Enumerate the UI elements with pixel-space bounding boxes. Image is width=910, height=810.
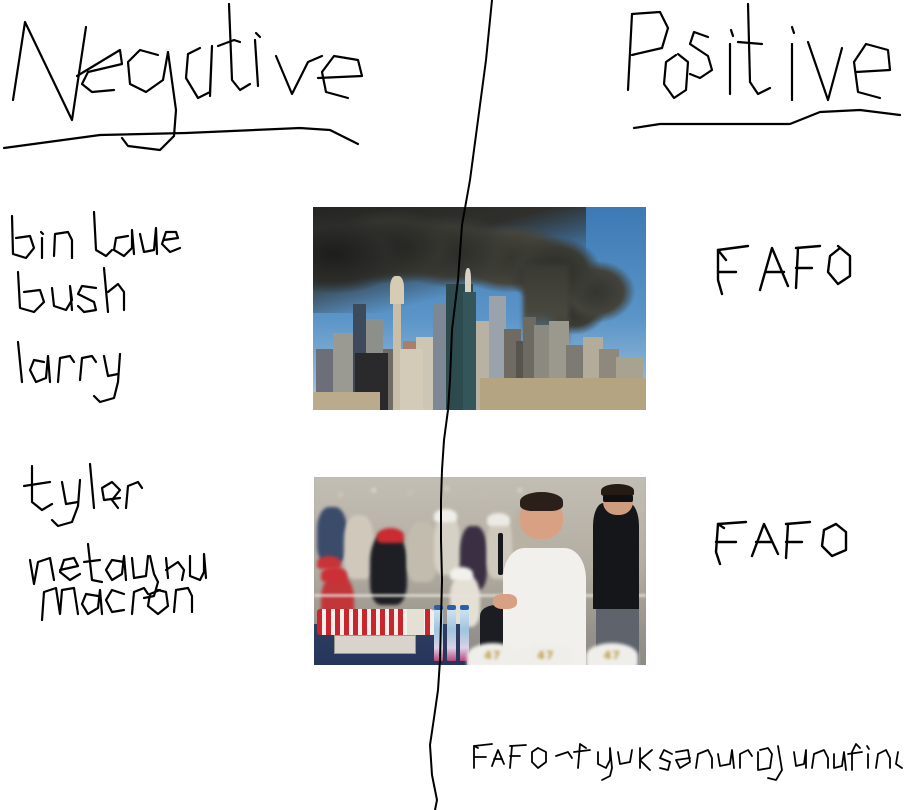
crowd-cap <box>321 567 348 582</box>
header-negative-handwriting <box>13 4 362 150</box>
crowd-cap <box>434 509 457 522</box>
bottle-cap <box>434 605 443 610</box>
header-positive-underline <box>634 110 900 128</box>
cup <box>407 609 424 635</box>
microphone-icon <box>498 533 503 574</box>
building <box>400 349 423 410</box>
building <box>465 268 472 292</box>
crowd-cap <box>487 513 510 526</box>
list-item-macron <box>42 588 192 620</box>
building <box>390 276 403 304</box>
list-item-netanyahu <box>30 544 206 598</box>
foreground-rooftop <box>313 392 380 410</box>
speaker-hand <box>493 594 516 609</box>
list-item-tyler <box>24 464 142 526</box>
photo-event: 47 47 47 Man in white t-shirt holding a … <box>314 477 646 665</box>
header-positive-handwriting <box>628 4 890 100</box>
footer-caption <box>474 744 902 780</box>
header-negative-underline <box>4 128 358 148</box>
dot-i <box>792 27 794 33</box>
guard-body <box>593 503 639 608</box>
bottle-cap <box>460 605 469 610</box>
crowd-person <box>407 522 437 582</box>
building <box>463 292 476 410</box>
cap-47: 47 <box>586 643 638 665</box>
positive-label-fafo-bottom <box>716 522 846 564</box>
crowd-person <box>317 507 347 563</box>
list-item-larry <box>18 342 120 402</box>
crowd-cap <box>377 528 404 543</box>
foreground-rooftop <box>480 378 647 410</box>
positive-label-fafo-top <box>718 246 850 294</box>
crowd-cap <box>450 567 473 580</box>
sunglasses-icon <box>603 495 633 503</box>
water-bottle <box>447 609 456 662</box>
crowd-person <box>344 515 374 579</box>
photo-wtc: World Trade Center towers burning with l… <box>313 207 646 410</box>
water-bottle <box>434 609 443 662</box>
crowd-person <box>434 515 461 575</box>
speaker-hair <box>520 492 563 511</box>
bottle-cap <box>447 605 456 610</box>
dot-i <box>731 30 733 36</box>
cap-47: 47 <box>467 643 519 665</box>
list-item-bin-laden <box>12 212 180 258</box>
list-item-bush <box>18 268 124 312</box>
cap-47: 47 <box>520 643 572 665</box>
merch-box <box>334 635 416 654</box>
whiteboard-canvas: World Trade Center towers burning with l… <box>0 0 910 810</box>
